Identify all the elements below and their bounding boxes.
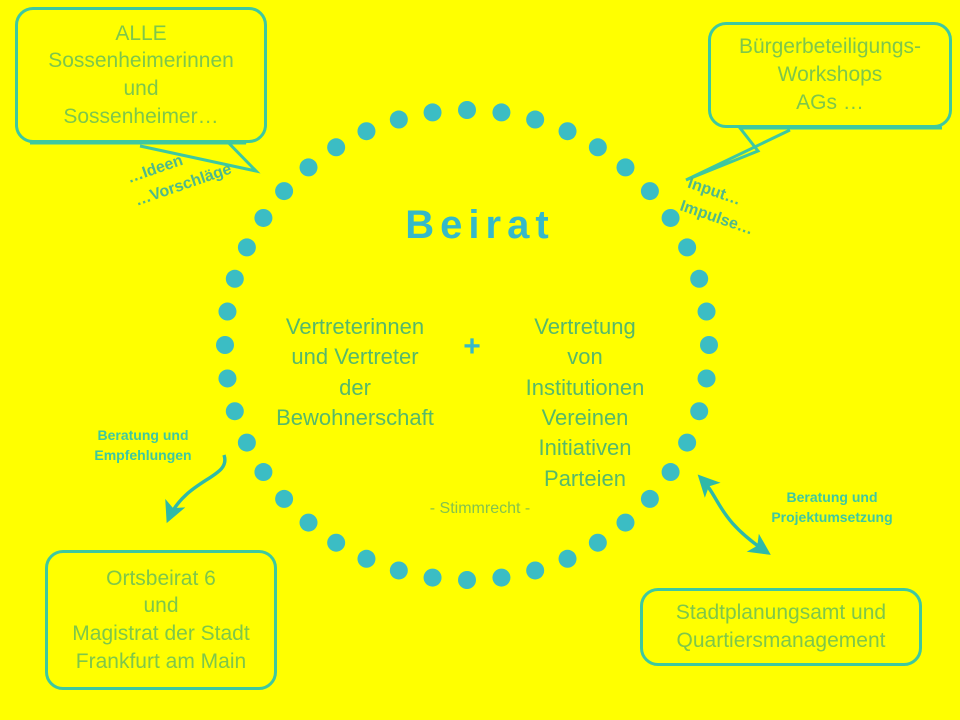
ring-dot <box>216 336 234 354</box>
ring-dot <box>226 402 244 420</box>
box-stadtplanung[interactable]: Stadtplanungsamt und Quartiersmanagement <box>640 588 922 666</box>
workshops-tail <box>686 128 942 180</box>
ring-dot <box>357 550 375 568</box>
ring-dot <box>424 103 442 121</box>
box-ortsbeirat[interactable]: Ortsbeirat 6 und Magistrat der Stadt Fra… <box>45 550 277 690</box>
ring-dot <box>300 158 318 176</box>
ring-dot <box>492 103 510 121</box>
ring-dot <box>526 561 544 579</box>
ring-dot <box>275 182 293 200</box>
ring-dot <box>390 111 408 129</box>
ring-dot <box>698 303 716 321</box>
label-beratung-projektumsetzung: Beratung und Projektumsetzung <box>742 487 922 528</box>
column-institutions: Vertretung von Institutionen Vereinen In… <box>492 312 678 494</box>
ring-dot <box>641 182 659 200</box>
ring-dot <box>254 463 272 481</box>
ring-dot <box>218 369 236 387</box>
ring-dot <box>218 303 236 321</box>
ring-dot <box>327 534 345 552</box>
ring-dot <box>327 138 345 156</box>
ring-dot <box>616 158 634 176</box>
ring-dot <box>690 270 708 288</box>
box-ortsbeirat-text: Ortsbeirat 6 und Magistrat der Stadt Fra… <box>72 565 249 676</box>
ring-dot <box>390 561 408 579</box>
ring-dot <box>559 550 577 568</box>
plus-icon: + <box>452 330 492 364</box>
ring-dot <box>589 138 607 156</box>
ring-dot <box>458 571 476 589</box>
ring-dot <box>424 569 442 587</box>
bubble-workshops-text: Bürgerbeteiligungs- Workshops AGs … <box>739 33 921 116</box>
ring-dot <box>698 369 716 387</box>
bubble-citizens-text: ALLE Sossenheimerinnen und Sossenheimer… <box>48 20 234 131</box>
ring-dot <box>357 122 375 140</box>
ring-dot <box>559 122 577 140</box>
label-ideen-vorschlaege: …Ideen …Vorschläge <box>124 135 235 213</box>
ring-dot <box>226 270 244 288</box>
ring-dot <box>238 434 256 452</box>
beirat-title: Beirat <box>0 203 960 248</box>
ring-dot <box>589 534 607 552</box>
ring-dot <box>700 336 718 354</box>
ring-dot <box>690 402 708 420</box>
bubble-workshops[interactable]: Bürgerbeteiligungs- Workshops AGs … <box>708 22 952 128</box>
ring-dot <box>526 111 544 129</box>
box-stadtplanung-text: Stadtplanungsamt und Quartiersmanagement <box>676 599 886 654</box>
ring-dot <box>492 569 510 587</box>
bubble-citizens[interactable]: ALLE Sossenheimerinnen und Sossenheimer… <box>15 7 267 143</box>
label-beratung-empfehlungen: Beratung und Empfehlungen <box>68 425 218 466</box>
ring-dot <box>458 101 476 119</box>
ring-dot <box>678 434 696 452</box>
diagram-canvas: ALLE Sossenheimerinnen und Sossenheimer…… <box>0 0 960 720</box>
column-residents: Vertreterinnen und Vertreter der Bewohne… <box>262 312 448 433</box>
